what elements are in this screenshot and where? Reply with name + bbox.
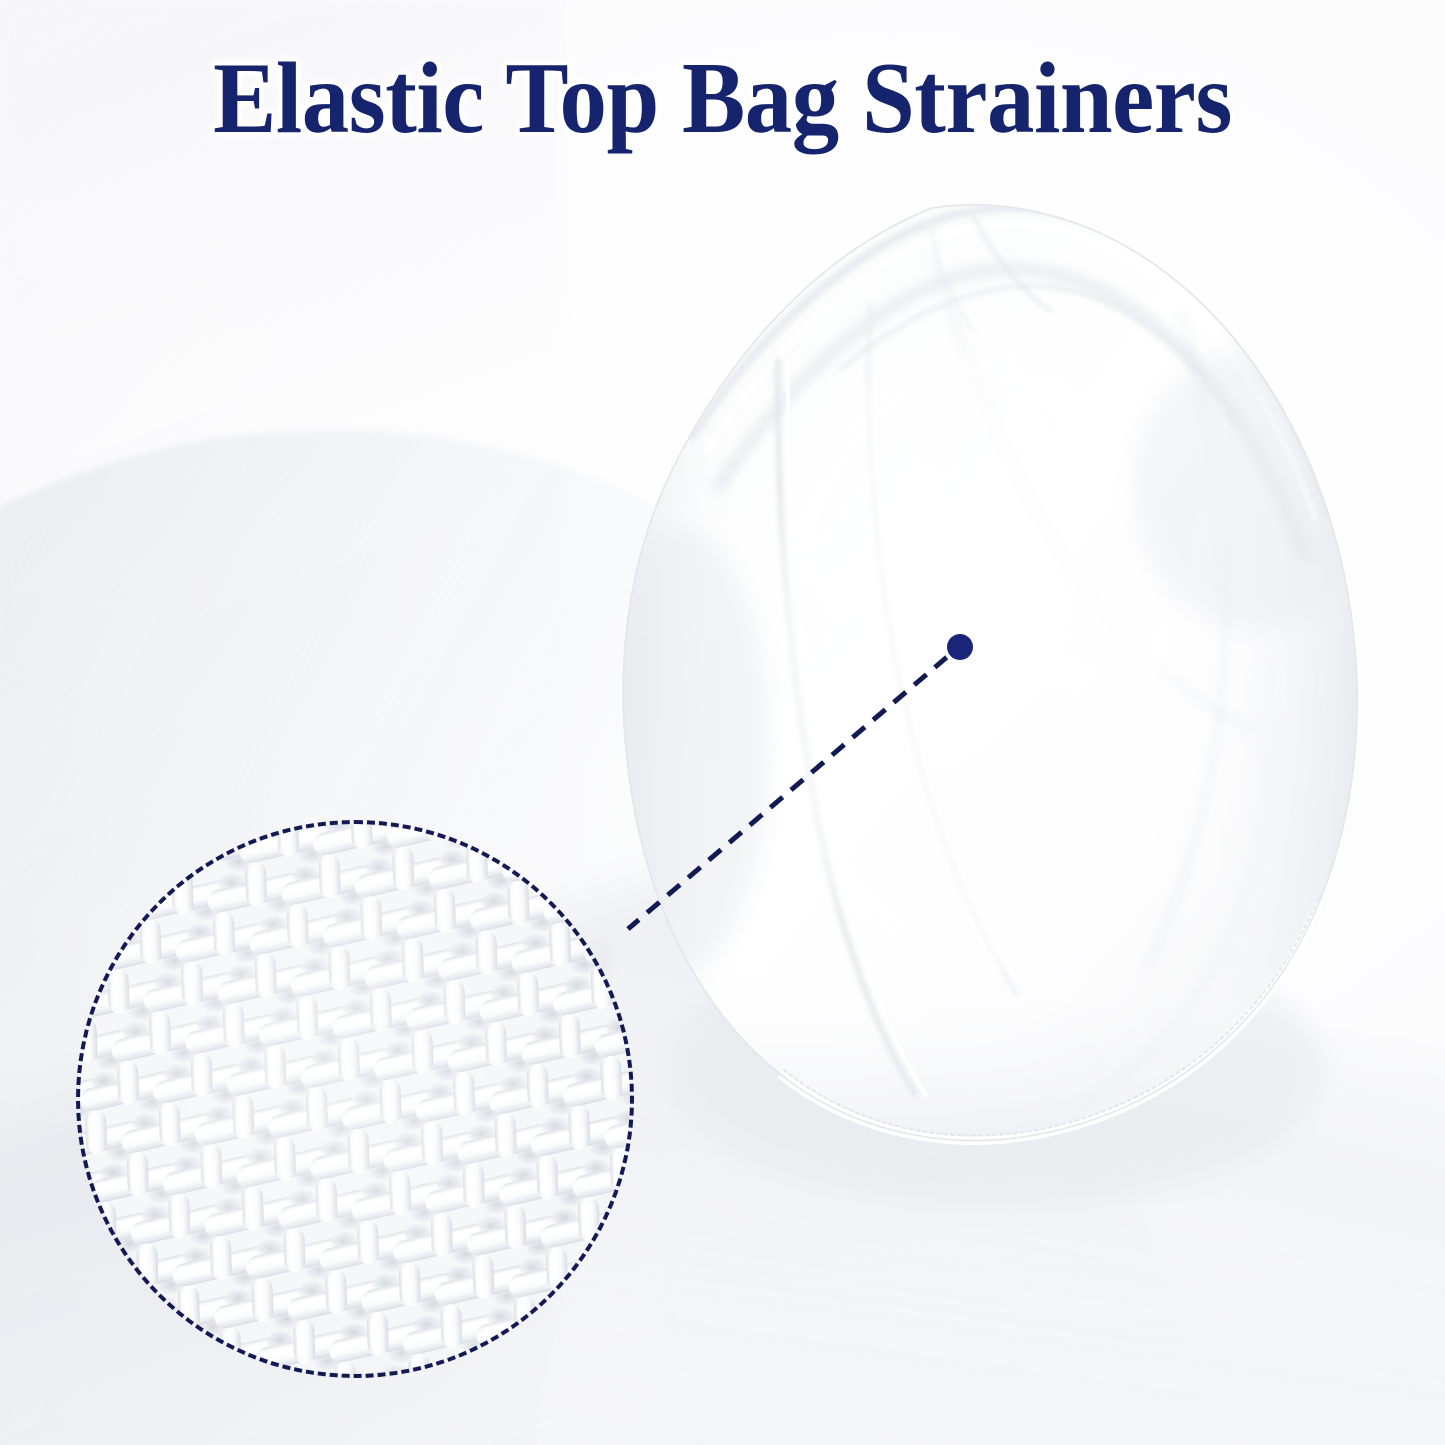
page-title: Elastic Top Bag Strainers <box>51 44 1395 154</box>
magnifier-dashed-ring <box>76 820 634 1378</box>
magnifier-circle <box>76 820 634 1378</box>
product-bag-image <box>540 190 1370 1190</box>
product-hero-image: Elastic Top Bag Strainers <box>0 0 1445 1445</box>
